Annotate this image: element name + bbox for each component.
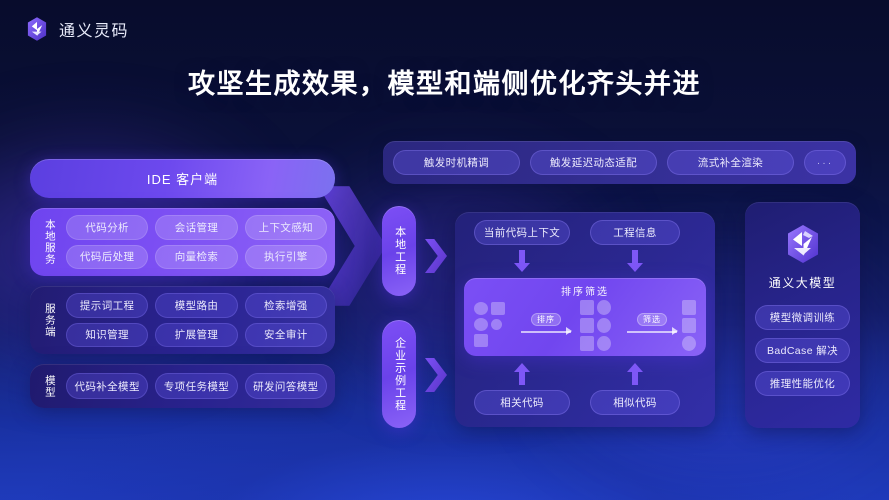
chip-badcase-resolution[interactable]: BadCase 解决	[755, 338, 850, 363]
tag-similar-code[interactable]: 相似代码	[590, 390, 680, 415]
top-tag-strip: 触发时机精调 触发延迟动态适配 流式补全渲染 ···	[383, 141, 856, 184]
tag-trigger-timing-tuning[interactable]: 触发时机精调	[393, 150, 520, 175]
group-models: 模型 代码补全模型 专项任务模型 研发问答模型	[30, 364, 335, 408]
tag-more-button[interactable]: ···	[804, 150, 846, 175]
flow-arrow-sort-head-icon	[566, 327, 572, 335]
shape-square	[491, 302, 505, 315]
chip-code-analysis[interactable]: 代码分析	[66, 215, 148, 240]
tag-trigger-latency-adaptation[interactable]: 触发延迟动态适配	[530, 150, 657, 175]
flow-arrow-filter-label: 筛选	[637, 313, 667, 326]
shape-cluster-output	[682, 300, 696, 351]
shape-square	[474, 334, 488, 347]
ide-client-bar[interactable]: IDE 客户端	[30, 159, 335, 198]
shape-square	[580, 300, 594, 315]
group-local-service: 本地服务 代码分析 会话管理 上下文感知 代码后处理 向量检索 执行引擎	[30, 208, 335, 276]
chip-knowledge-management[interactable]: 知识管理	[66, 323, 148, 348]
chip-model-finetune-training[interactable]: 模型微调训练	[755, 305, 850, 330]
chip-model-routing[interactable]: 模型路由	[155, 293, 237, 318]
shape-circle	[474, 302, 488, 315]
group-local-service-items: 代码分析 会话管理 上下文感知 代码后处理 向量检索 执行引擎	[66, 215, 327, 269]
chip-prompt-engineering[interactable]: 提示词工程	[66, 293, 148, 318]
arrow-up-icon-1	[513, 363, 531, 385]
tongyi-model-items: 模型微调训练 BadCase 解决 推理性能优化	[755, 305, 850, 396]
chip-vector-retrieval[interactable]: 向量检索	[155, 245, 237, 270]
flow-arrow-filter-line	[627, 331, 677, 333]
tag-related-code[interactable]: 相关代码	[474, 390, 570, 415]
chevron-right-icon-1	[425, 239, 447, 273]
chevron-right-icon-2	[425, 358, 447, 392]
chip-context-awareness[interactable]: 上下文感知	[245, 215, 327, 240]
arrow-down-icon-1	[513, 250, 531, 272]
group-server-side: 服务端 提示词工程 模型路由 检索增强 知识管理 扩展管理 安全审计	[30, 286, 335, 354]
chip-session-management[interactable]: 会话管理	[155, 215, 237, 240]
shape-square	[682, 300, 696, 315]
shape-square	[580, 318, 594, 333]
tag-project-info[interactable]: 工程信息	[590, 220, 680, 245]
chip-code-postprocess[interactable]: 代码后处理	[66, 245, 148, 270]
brand-logo: 通义灵码	[24, 16, 129, 42]
shape-circle	[491, 319, 502, 330]
shape-circle	[597, 336, 611, 351]
chip-retrieval-augmentation[interactable]: 检索增强	[245, 293, 327, 318]
shape-circle	[597, 300, 611, 315]
shape-square	[682, 318, 696, 333]
chip-dev-qa-model[interactable]: 研发问答模型	[245, 373, 327, 399]
tag-streaming-completion-render[interactable]: 流式补全渲染	[667, 150, 794, 175]
chip-task-specific-model[interactable]: 专项任务模型	[155, 373, 237, 399]
group-local-service-label: 本地服务	[38, 215, 60, 269]
pill-local-project-label: 本地工程	[392, 226, 405, 276]
page-title: 攻坚生成效果，模型和端侧优化齐头并进	[0, 62, 889, 101]
tongyi-model-panel: 通义大模型 模型微调训练 BadCase 解决 推理性能优化	[745, 202, 860, 428]
pill-local-project[interactable]: 本地工程	[382, 206, 416, 296]
sort-filter-box: 排序筛选 排序 筛选	[464, 278, 706, 356]
brand-name: 通义灵码	[59, 17, 129, 41]
flow-arrow-sort-label: 排序	[531, 313, 561, 326]
group-server-side-label: 服务端	[38, 293, 60, 347]
shape-cluster-sorted	[580, 300, 611, 351]
chip-extension-management[interactable]: 扩展管理	[155, 323, 237, 348]
sort-filter-title: 排序筛选	[464, 283, 706, 298]
shape-cluster-input	[474, 302, 505, 347]
tag-current-code-context[interactable]: 当前代码上下文	[474, 220, 570, 245]
pill-enterprise-sample-project[interactable]: 企业示例工程	[382, 320, 416, 428]
shape-square	[580, 336, 594, 351]
chip-security-audit[interactable]: 安全审计	[245, 323, 327, 348]
shape-circle	[474, 318, 488, 331]
arrow-up-icon-2	[626, 363, 644, 385]
slide-canvas: 通义灵码 攻坚生成效果，模型和端侧优化齐头并进 IDE 客户端 本地服务 代码分…	[0, 0, 889, 500]
tongyi-lingma-logo-icon	[24, 16, 50, 42]
flow-arrow-sort-line	[521, 331, 571, 333]
tongyi-model-title: 通义大模型	[769, 274, 837, 291]
group-server-side-items: 提示词工程 模型路由 检索增强 知识管理 扩展管理 安全审计	[66, 293, 327, 347]
chip-execution-engine[interactable]: 执行引擎	[245, 245, 327, 270]
flow-arrow-filter-head-icon	[672, 327, 678, 335]
ide-client-label: IDE 客户端	[147, 169, 218, 188]
chip-inference-performance-optimization[interactable]: 推理性能优化	[755, 371, 850, 396]
group-models-items: 代码补全模型 专项任务模型 研发问答模型	[66, 371, 327, 401]
shape-circle	[597, 318, 611, 333]
tongyi-model-logo-icon	[783, 224, 823, 264]
arrow-down-icon-2	[626, 250, 644, 272]
group-models-label: 模型	[38, 371, 60, 401]
shape-circle	[682, 336, 696, 351]
chip-code-completion-model[interactable]: 代码补全模型	[66, 373, 148, 399]
pill-enterprise-sample-project-label: 企业示例工程	[392, 337, 405, 412]
